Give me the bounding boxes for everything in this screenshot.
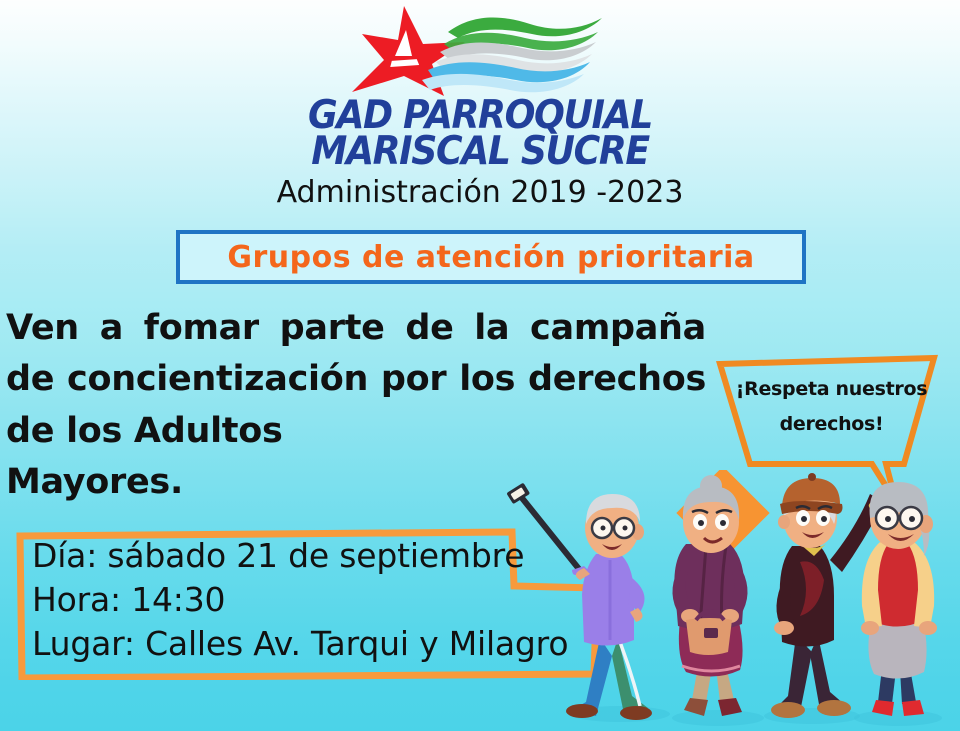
shoe xyxy=(902,700,924,716)
leg xyxy=(810,636,844,710)
elderly-woman-with-handbag xyxy=(672,475,747,716)
shoe xyxy=(817,700,851,716)
administration-period-label: Administración 2019 -2023 xyxy=(0,175,960,210)
ground-shadow xyxy=(854,710,942,726)
shirt xyxy=(582,554,634,646)
flat-cap-icon xyxy=(780,473,843,514)
four-elderly-people-illustration xyxy=(500,470,960,731)
leg xyxy=(776,636,812,712)
speech-bubble-line-1: ¡Respeta nuestros xyxy=(724,372,939,407)
title-banner-inner: Grupos de atención prioritaria xyxy=(180,234,802,280)
logo-mark xyxy=(340,4,620,96)
hand xyxy=(861,621,879,635)
poster-canvas: GAD PARROQUIAL MARISCAL SUCRE Administra… xyxy=(0,0,960,731)
hand xyxy=(919,621,937,635)
speech-bubble-line-2: derechos! xyxy=(724,407,939,442)
shoe xyxy=(620,706,652,720)
ground-shadow xyxy=(672,710,764,726)
selfie-stick-icon xyxy=(506,483,583,574)
elderly-man-with-selfie-stick xyxy=(506,483,652,720)
title-banner: Grupos de atención prioritaria xyxy=(176,230,806,284)
shoe xyxy=(771,702,805,718)
organization-logo-block: GAD PARROQUIAL MARISCAL SUCRE Administra… xyxy=(0,4,960,210)
hand xyxy=(774,621,794,635)
ear xyxy=(778,515,790,529)
speech-bubble-text: ¡Respeta nuestros derechos! xyxy=(724,372,939,442)
hair-bun xyxy=(700,475,722,497)
elderly-woman-with-glasses xyxy=(861,482,937,716)
logo-title-line-2: MARISCAL SUCRE xyxy=(34,134,927,170)
page-title: Grupos de atención prioritaria xyxy=(227,240,754,275)
body-paragraph-main: Ven a fomar parte de la campaña de conci… xyxy=(6,308,706,451)
wave-swoosh-icon xyxy=(422,17,602,92)
shoe xyxy=(566,704,598,718)
